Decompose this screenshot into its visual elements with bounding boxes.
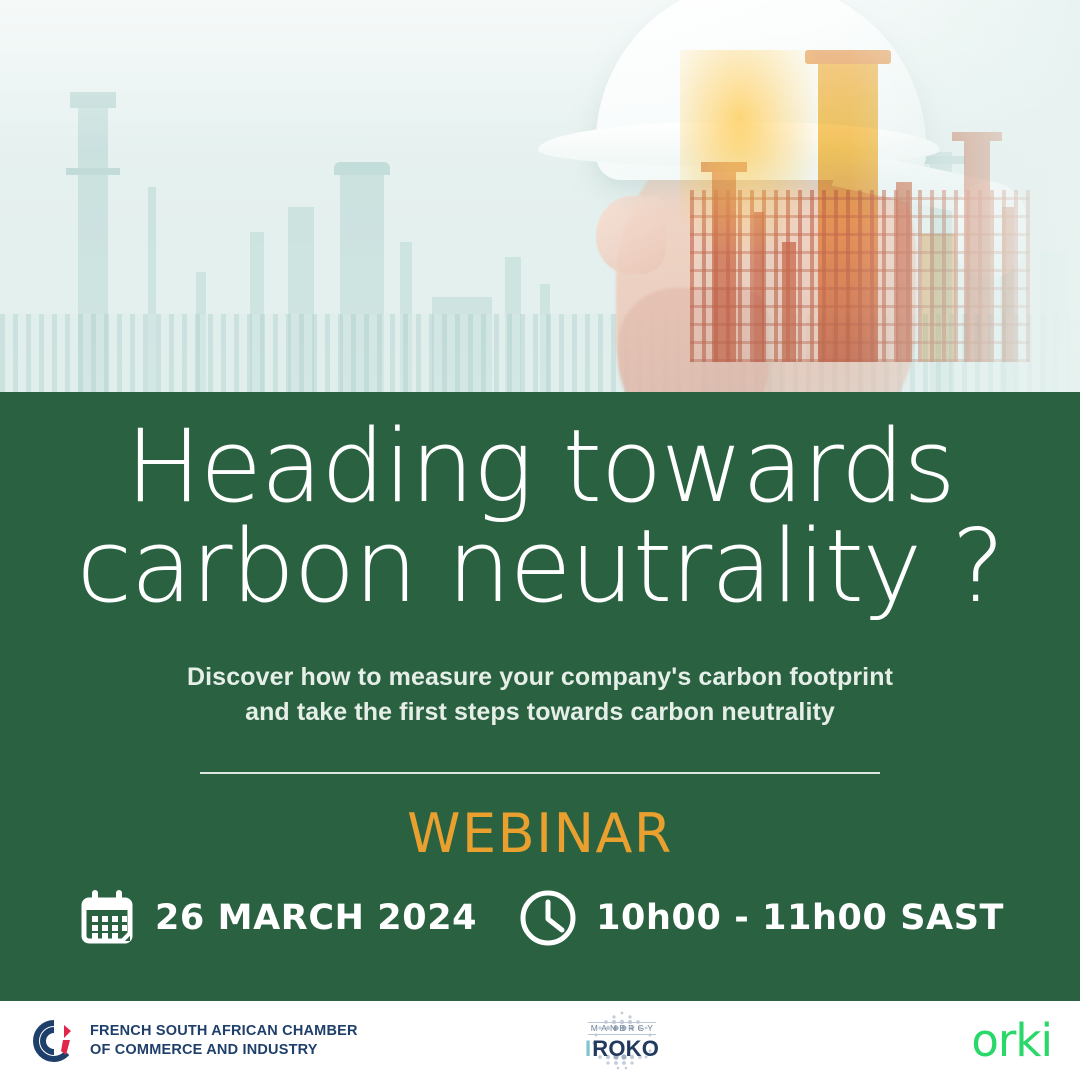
manergy-iroko-logo: MANERGY IROKO [566, 1009, 678, 1073]
content-panel: Heading towards carbon neutrality ? Disc… [0, 392, 1080, 1001]
iroko-wordmark: IROKO [585, 1038, 659, 1060]
fsacci-logo-text: FRENCH SOUTH AFRICAN CHAMBER OF COMMERCE… [90, 1022, 358, 1059]
footer-logo-bar: FRENCH SOUTH AFRICAN CHAMBER OF COMMERCE… [0, 1001, 1080, 1080]
page-title: Heading towards carbon neutrality ? [0, 416, 1080, 616]
hero-image [0, 0, 1080, 392]
calendar-icon [76, 887, 138, 949]
divider [200, 772, 880, 774]
hero-edge-fade [850, 0, 1080, 392]
event-type-label: WEBINAR [0, 802, 1080, 865]
fsacci-logo: FRENCH SOUTH AFRICAN CHAMBER OF COMMERCE… [30, 1019, 358, 1063]
orki-logo: orki [971, 1018, 1052, 1063]
iroko-initial: I [585, 1038, 591, 1060]
manergy-tagline: MANERGY [588, 1022, 656, 1035]
iroko-word-rest: ROKO [592, 1038, 659, 1060]
event-meta-row: 26 MARCH 2024 10h00 - 11h00 SAST [0, 887, 1080, 949]
clock-icon [517, 887, 579, 949]
subtitle: Discover how to measure your company's c… [0, 660, 1080, 729]
fsacci-mark-icon [30, 1019, 78, 1063]
event-time: 10h00 - 11h00 SAST [517, 887, 1004, 949]
webinar-poster: Heading towards carbon neutrality ? Disc… [0, 0, 1080, 1080]
event-date: 26 MARCH 2024 [76, 887, 477, 949]
event-date-text: 26 MARCH 2024 [155, 898, 477, 938]
event-time-text: 10h00 - 11h00 SAST [596, 898, 1004, 938]
